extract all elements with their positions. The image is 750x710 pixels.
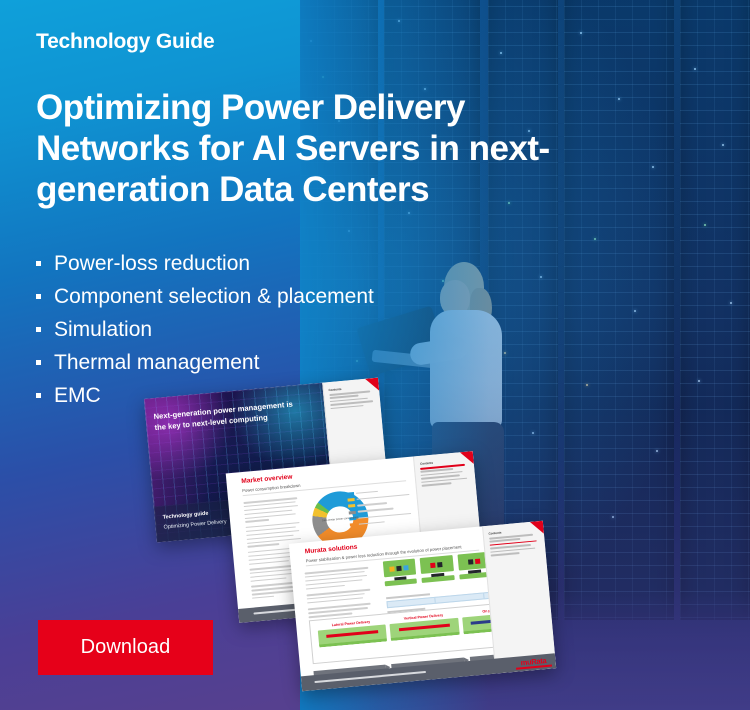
toc-panel: Contents [482,521,556,674]
cover-glow [224,383,330,478]
chart-legend [347,487,412,530]
body-text-column [304,567,372,621]
document-previews: Next-generation power management is the … [0,0,750,710]
red-corner-accent [365,378,379,392]
download-button[interactable]: Download [38,620,213,675]
diagram-board [390,618,460,641]
package-top-view [420,555,454,574]
package-side-view [422,575,455,583]
footer-text-line [314,671,426,683]
package-top-view [383,559,417,578]
toc-line [490,552,519,556]
diagram-vertical: Vertical Power Delivery [389,612,459,641]
toc-line [422,482,451,486]
diagram-lateral: Lateral Power Delivery [317,618,387,647]
diagram-board [317,624,387,647]
red-corner-accent [460,451,474,465]
document-thumbnail-murata-solutions[interactable]: Murata solutions Power stabilization & p… [289,521,556,692]
red-corner-accent [530,521,544,535]
package-side-view [384,578,417,586]
promo-banner: Technology Guide Optimizing Power Delive… [0,0,750,710]
